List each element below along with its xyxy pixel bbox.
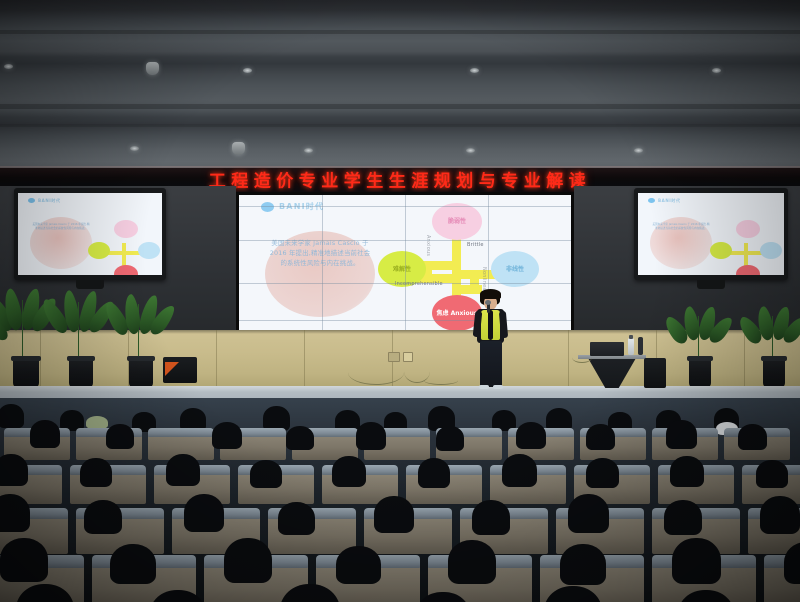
pa-speaker-box	[644, 358, 666, 388]
monitor-right-stand	[697, 280, 725, 289]
bani-node-incomprehensible	[88, 242, 110, 259]
panel-seam	[322, 195, 323, 331]
label-brittle: Brittle	[467, 242, 484, 248]
wall-seam	[40, 330, 41, 392]
ceiling-spotlight-icon	[232, 142, 245, 155]
microphone-head-icon	[485, 300, 491, 305]
ceiling-band	[0, 30, 800, 34]
water-bottle	[628, 338, 634, 355]
ceiling-spotlight-icon	[470, 68, 479, 73]
presenter-hair-top	[480, 289, 501, 299]
bani-logo-icon	[28, 198, 35, 203]
bani-node-anxious	[736, 265, 760, 275]
ceiling-spotlight-icon	[304, 148, 313, 153]
side-monitor-left: BANI时代 美国未来学家 Jamais Cascio 于 2016 年提出,精…	[14, 188, 166, 280]
bani-node-brittle	[736, 220, 760, 238]
podium-cable	[572, 352, 592, 363]
laptop	[590, 342, 624, 356]
handheld-mic	[638, 337, 643, 355]
ceiling-spotlight-icon	[146, 62, 159, 75]
led-banner-text: 工程造价专业学生生涯规划与专业解读	[209, 167, 592, 192]
panel-seam	[239, 240, 571, 241]
side-monitor-left-screen: BANI时代 美国未来学家 Jamais Cascio 于 2016 年提出,精…	[18, 193, 162, 275]
bani-node-anxious	[114, 265, 138, 275]
bani-node-brittle: 脆弱性	[432, 203, 482, 240]
wall-seam	[744, 330, 745, 392]
bani-logo-icon	[261, 202, 274, 212]
side-monitor-right: BANI时代 美国未来学家 Jamais Cascio 于 2016 年提出,精…	[634, 188, 788, 280]
bani-logo-icon	[648, 198, 655, 203]
side-monitor-right-screen: BANI时代 美国未来学家 Jamais Cascio 于 2016 年提出,精…	[638, 193, 784, 275]
auditorium-scene: 工程造价专业学生生涯规划与专业解读 BANI时代 美国未来学家 Jamais C…	[0, 0, 800, 602]
presenter-shoe-right	[493, 385, 503, 389]
monitor-right-body-text: 美国未来学家 Jamais Cascio 于 2016 年提出,精准地描述当前社…	[652, 223, 710, 231]
power-cable	[348, 360, 404, 385]
ceiling-spotlight-icon	[130, 146, 139, 151]
ceiling-band	[0, 104, 800, 109]
presenter-vest-opening	[488, 310, 493, 340]
label-anxious-vertical: Anxious	[425, 235, 431, 256]
panel-seam	[239, 320, 571, 321]
wall-seam	[304, 330, 305, 392]
ceiling	[0, 0, 800, 172]
ceiling-spotlight-icon	[243, 68, 252, 73]
bani-node-nonlinear	[138, 242, 160, 259]
wall-outlet	[388, 352, 400, 362]
ceiling-band	[0, 124, 800, 127]
power-cable	[424, 376, 458, 385]
presenter-legs	[480, 341, 502, 387]
wall-seam	[216, 330, 217, 392]
presenter-shoe-left	[479, 385, 489, 389]
bani-node-nonlinear	[760, 242, 782, 259]
wall-seam	[568, 330, 569, 392]
panel-seam	[405, 195, 406, 331]
slide-body-text: 美国未来学家 Jamais Cascio 于 2016 年提出,精准地描述当前社…	[267, 238, 373, 268]
monitor-right-logo-label: BANI时代	[658, 198, 681, 204]
label-incomprehensible: Incomprehensible	[395, 281, 443, 287]
video-wall: BANI时代 美国未来学家 Jamais Cascio 于 2016 年提出,精…	[236, 192, 574, 334]
monitor-left-stand	[76, 280, 104, 289]
bani-node-brittle	[114, 220, 138, 238]
ceiling-spotlight-icon	[712, 68, 721, 73]
video-wall-screen: BANI时代 美国未来学家 Jamais Cascio 于 2016 年提出,精…	[239, 195, 571, 331]
audience-area	[0, 398, 800, 602]
panel-seam	[239, 206, 571, 207]
bottle-cap	[629, 335, 633, 339]
panel-seam	[239, 283, 571, 284]
bani-node-nonlinear: 非线性	[491, 251, 539, 287]
ceiling-spotlight-icon	[466, 148, 475, 153]
bani-node-incomprehensible	[710, 242, 732, 259]
monitor-left-logo-label: BANI时代	[38, 198, 61, 204]
stage-floor-highlight	[0, 386, 800, 392]
ceiling-spotlight-icon	[4, 64, 13, 69]
monitor-left-body-text: 美国未来学家 Jamais Cascio 于 2016 年提出,精准地描述当前社…	[32, 223, 90, 231]
ceiling-spotlight-icon	[634, 148, 643, 153]
